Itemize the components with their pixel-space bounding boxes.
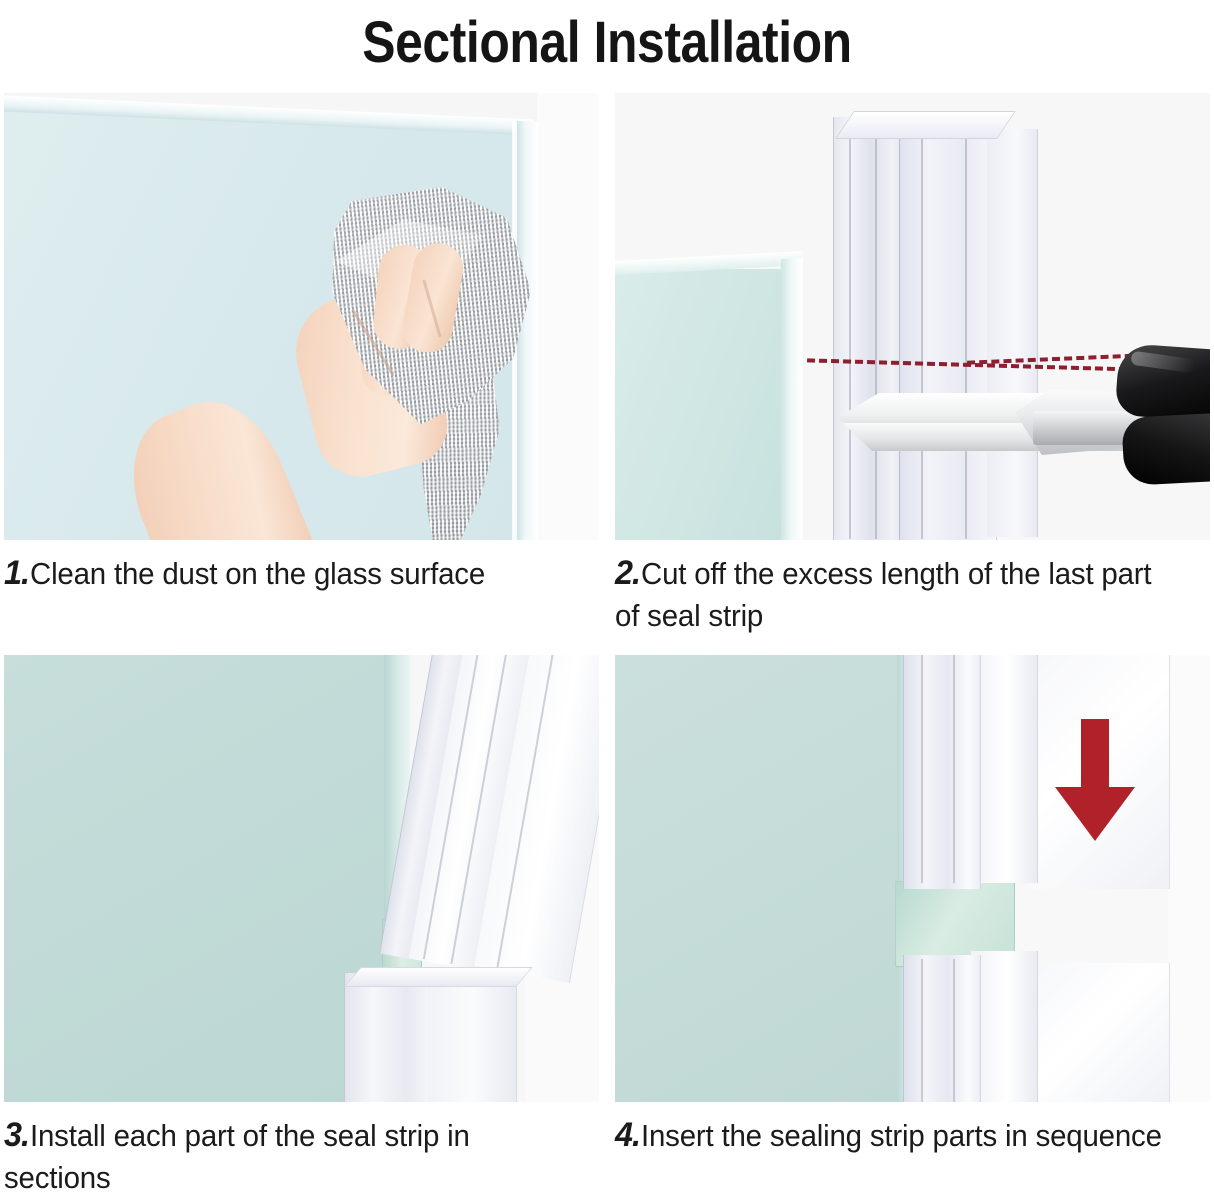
seal-strip-installed-top-face <box>344 967 533 987</box>
step-card-4: 4.Insert the sealing strip parts in sequ… <box>615 655 1210 1158</box>
step-3-figure <box>4 655 599 1102</box>
step-1-number: 1. <box>4 554 29 592</box>
seal-strip-rib <box>875 125 877 539</box>
step-1-figure <box>4 93 599 540</box>
cutter-handle-lower <box>1121 412 1210 486</box>
step-3-number: 3. <box>4 1116 29 1154</box>
seal-strip-rib <box>953 655 955 883</box>
step-4-number: 4. <box>615 1116 640 1154</box>
step-1-text: Clean the dust on the glass surface <box>30 556 485 591</box>
seal-strip-part-upper <box>903 655 981 889</box>
page-title: Sectional Installation <box>85 0 1129 86</box>
seal-strip-fin <box>987 129 1038 537</box>
arrow-head <box>1055 787 1135 841</box>
step-4-figure <box>615 655 1210 1102</box>
step-2-figure <box>615 93 1210 540</box>
seal-strip-upper-fin <box>971 655 1038 883</box>
seal-strip-rib <box>965 125 967 539</box>
seal-strip-lower-fin <box>971 951 1038 1102</box>
seal-strip-rib <box>849 125 851 539</box>
arrow-shaft <box>1081 719 1109 797</box>
step-3-caption: 3.Install each part of the seal strip in… <box>4 1102 569 1197</box>
seal-strip-rib <box>921 959 923 1102</box>
seal-strip-front-channel <box>899 125 997 540</box>
glass-panel-side-edge <box>781 258 803 540</box>
figure-right-backdrop <box>537 93 599 540</box>
steps-grid: 1.Clean the dust on the glass surface <box>0 86 1214 1201</box>
seal-strip-installed-fin <box>428 975 517 1102</box>
seal-strip-back-channel <box>833 117 909 540</box>
step-2-number: 2. <box>615 554 640 592</box>
seal-strip-top-cap <box>835 111 1016 139</box>
seal-strip-lower-wing <box>1029 963 1170 1102</box>
glass-panel <box>615 269 803 540</box>
down-arrow-icon <box>1055 719 1135 839</box>
step-4-caption: 4.Insert the sealing strip parts in sequ… <box>615 1102 1180 1158</box>
step-card-3: 3.Install each part of the seal strip in… <box>4 655 599 1197</box>
step-3-text: Install each part of the seal strip in s… <box>4 1118 470 1195</box>
step-4-text: Insert the sealing strip parts in sequen… <box>641 1118 1162 1153</box>
figure-right-backdrop <box>1168 655 1210 1102</box>
glass-panel <box>615 655 915 1102</box>
seal-strip-part-lower <box>903 955 981 1102</box>
step-2-text: Cut off the excess length of the last pa… <box>615 556 1151 633</box>
step-2-caption: 2.Cut off the excess length of the last … <box>615 540 1180 635</box>
step-card-2: 2.Cut off the excess length of the last … <box>615 93 1210 635</box>
step-card-1: 1.Clean the dust on the glass surface <box>4 93 599 596</box>
seal-strip-rib <box>921 125 923 539</box>
step-1-caption: 1.Clean the dust on the glass surface <box>4 540 569 596</box>
seal-strip <box>833 111 1033 540</box>
seal-strip-rib <box>953 959 955 1102</box>
seal-strip-rib <box>921 655 923 883</box>
